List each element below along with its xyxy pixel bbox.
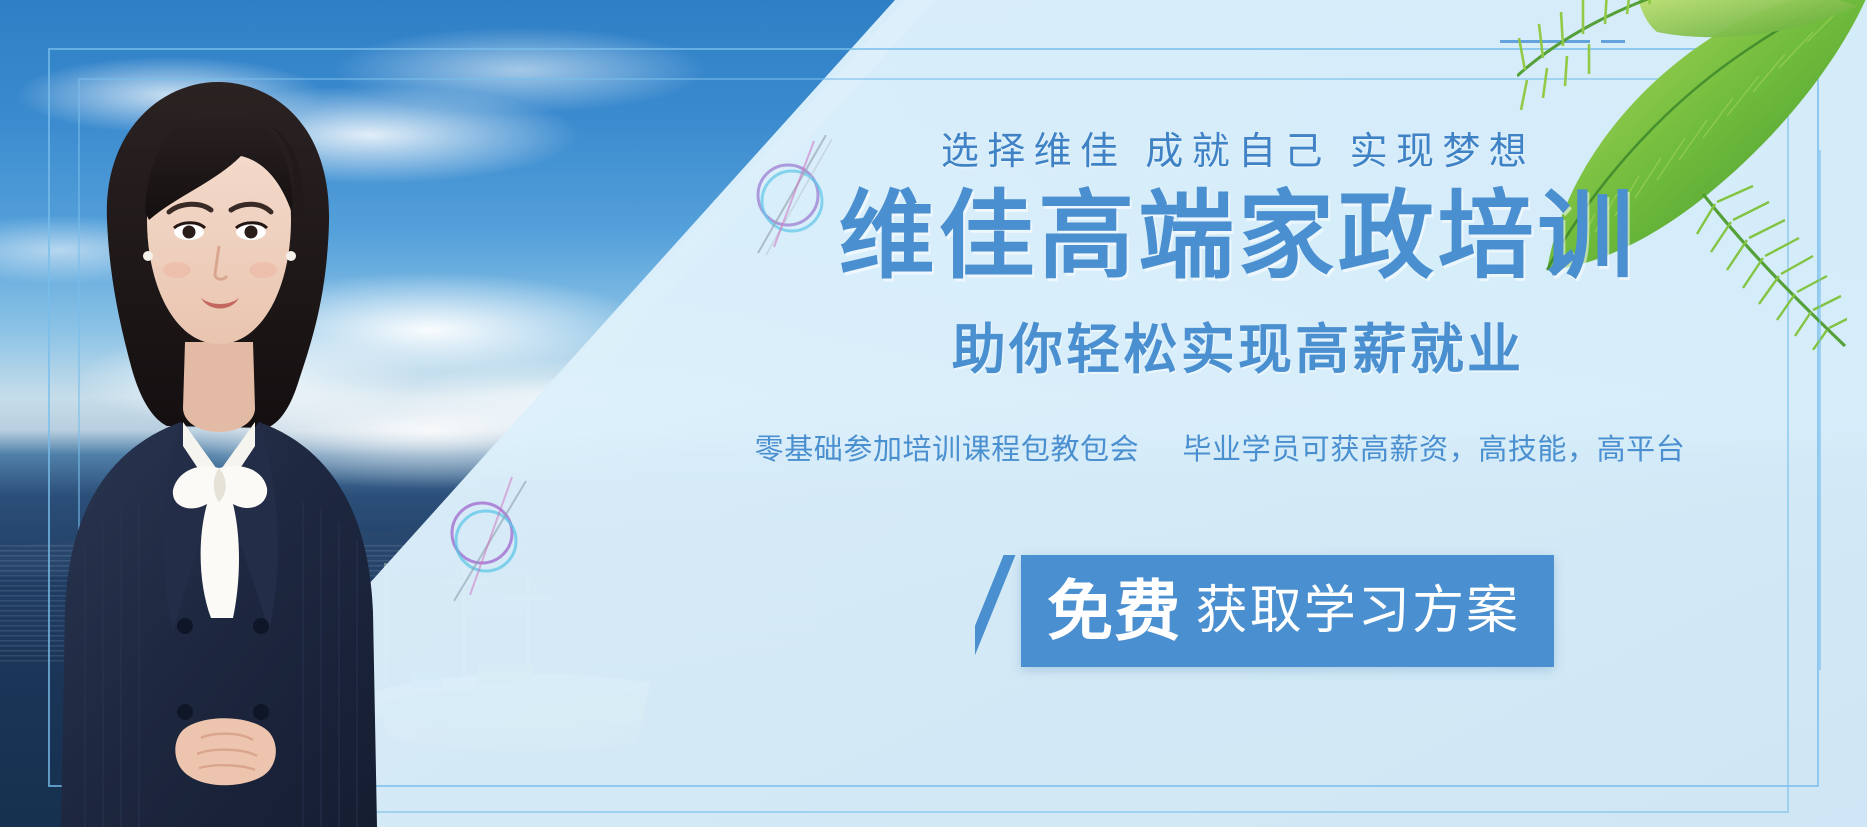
cta-container[interactable]: 免费 获取学习方案 <box>975 555 1554 667</box>
promo-banner: 选择维佳 成就自己 实现梦想 维佳高端家政培训 助你轻松实现高薪就业 零基础参加… <box>0 0 1867 827</box>
get-plan-button[interactable]: 免费 获取学习方案 <box>1021 555 1554 667</box>
tagline: 选择维佳 成就自己 实现梦想 <box>696 120 1780 175</box>
cta-emphasis: 免费 <box>1047 578 1182 644</box>
subtitle: 助你轻松实现高薪就业 <box>696 305 1780 384</box>
description-left: 零基础参加培训课程包教包会 <box>755 434 1140 466</box>
description-line: 零基础参加培训课程包教包会 毕业学员可获高薪资，高技能，高平台 <box>660 426 1780 468</box>
right-vertical-rule <box>1819 150 1821 670</box>
page-title: 维佳高端家政培训 <box>696 183 1780 291</box>
description-right: 毕业学员可获高薪资，高技能，高平台 <box>1182 434 1685 466</box>
cta-label: 获取学习方案 <box>1196 585 1520 637</box>
sketch-ring-icon-secondary <box>430 475 550 605</box>
instructor-portrait <box>55 70 385 827</box>
slash-accent-icon <box>975 555 1021 667</box>
